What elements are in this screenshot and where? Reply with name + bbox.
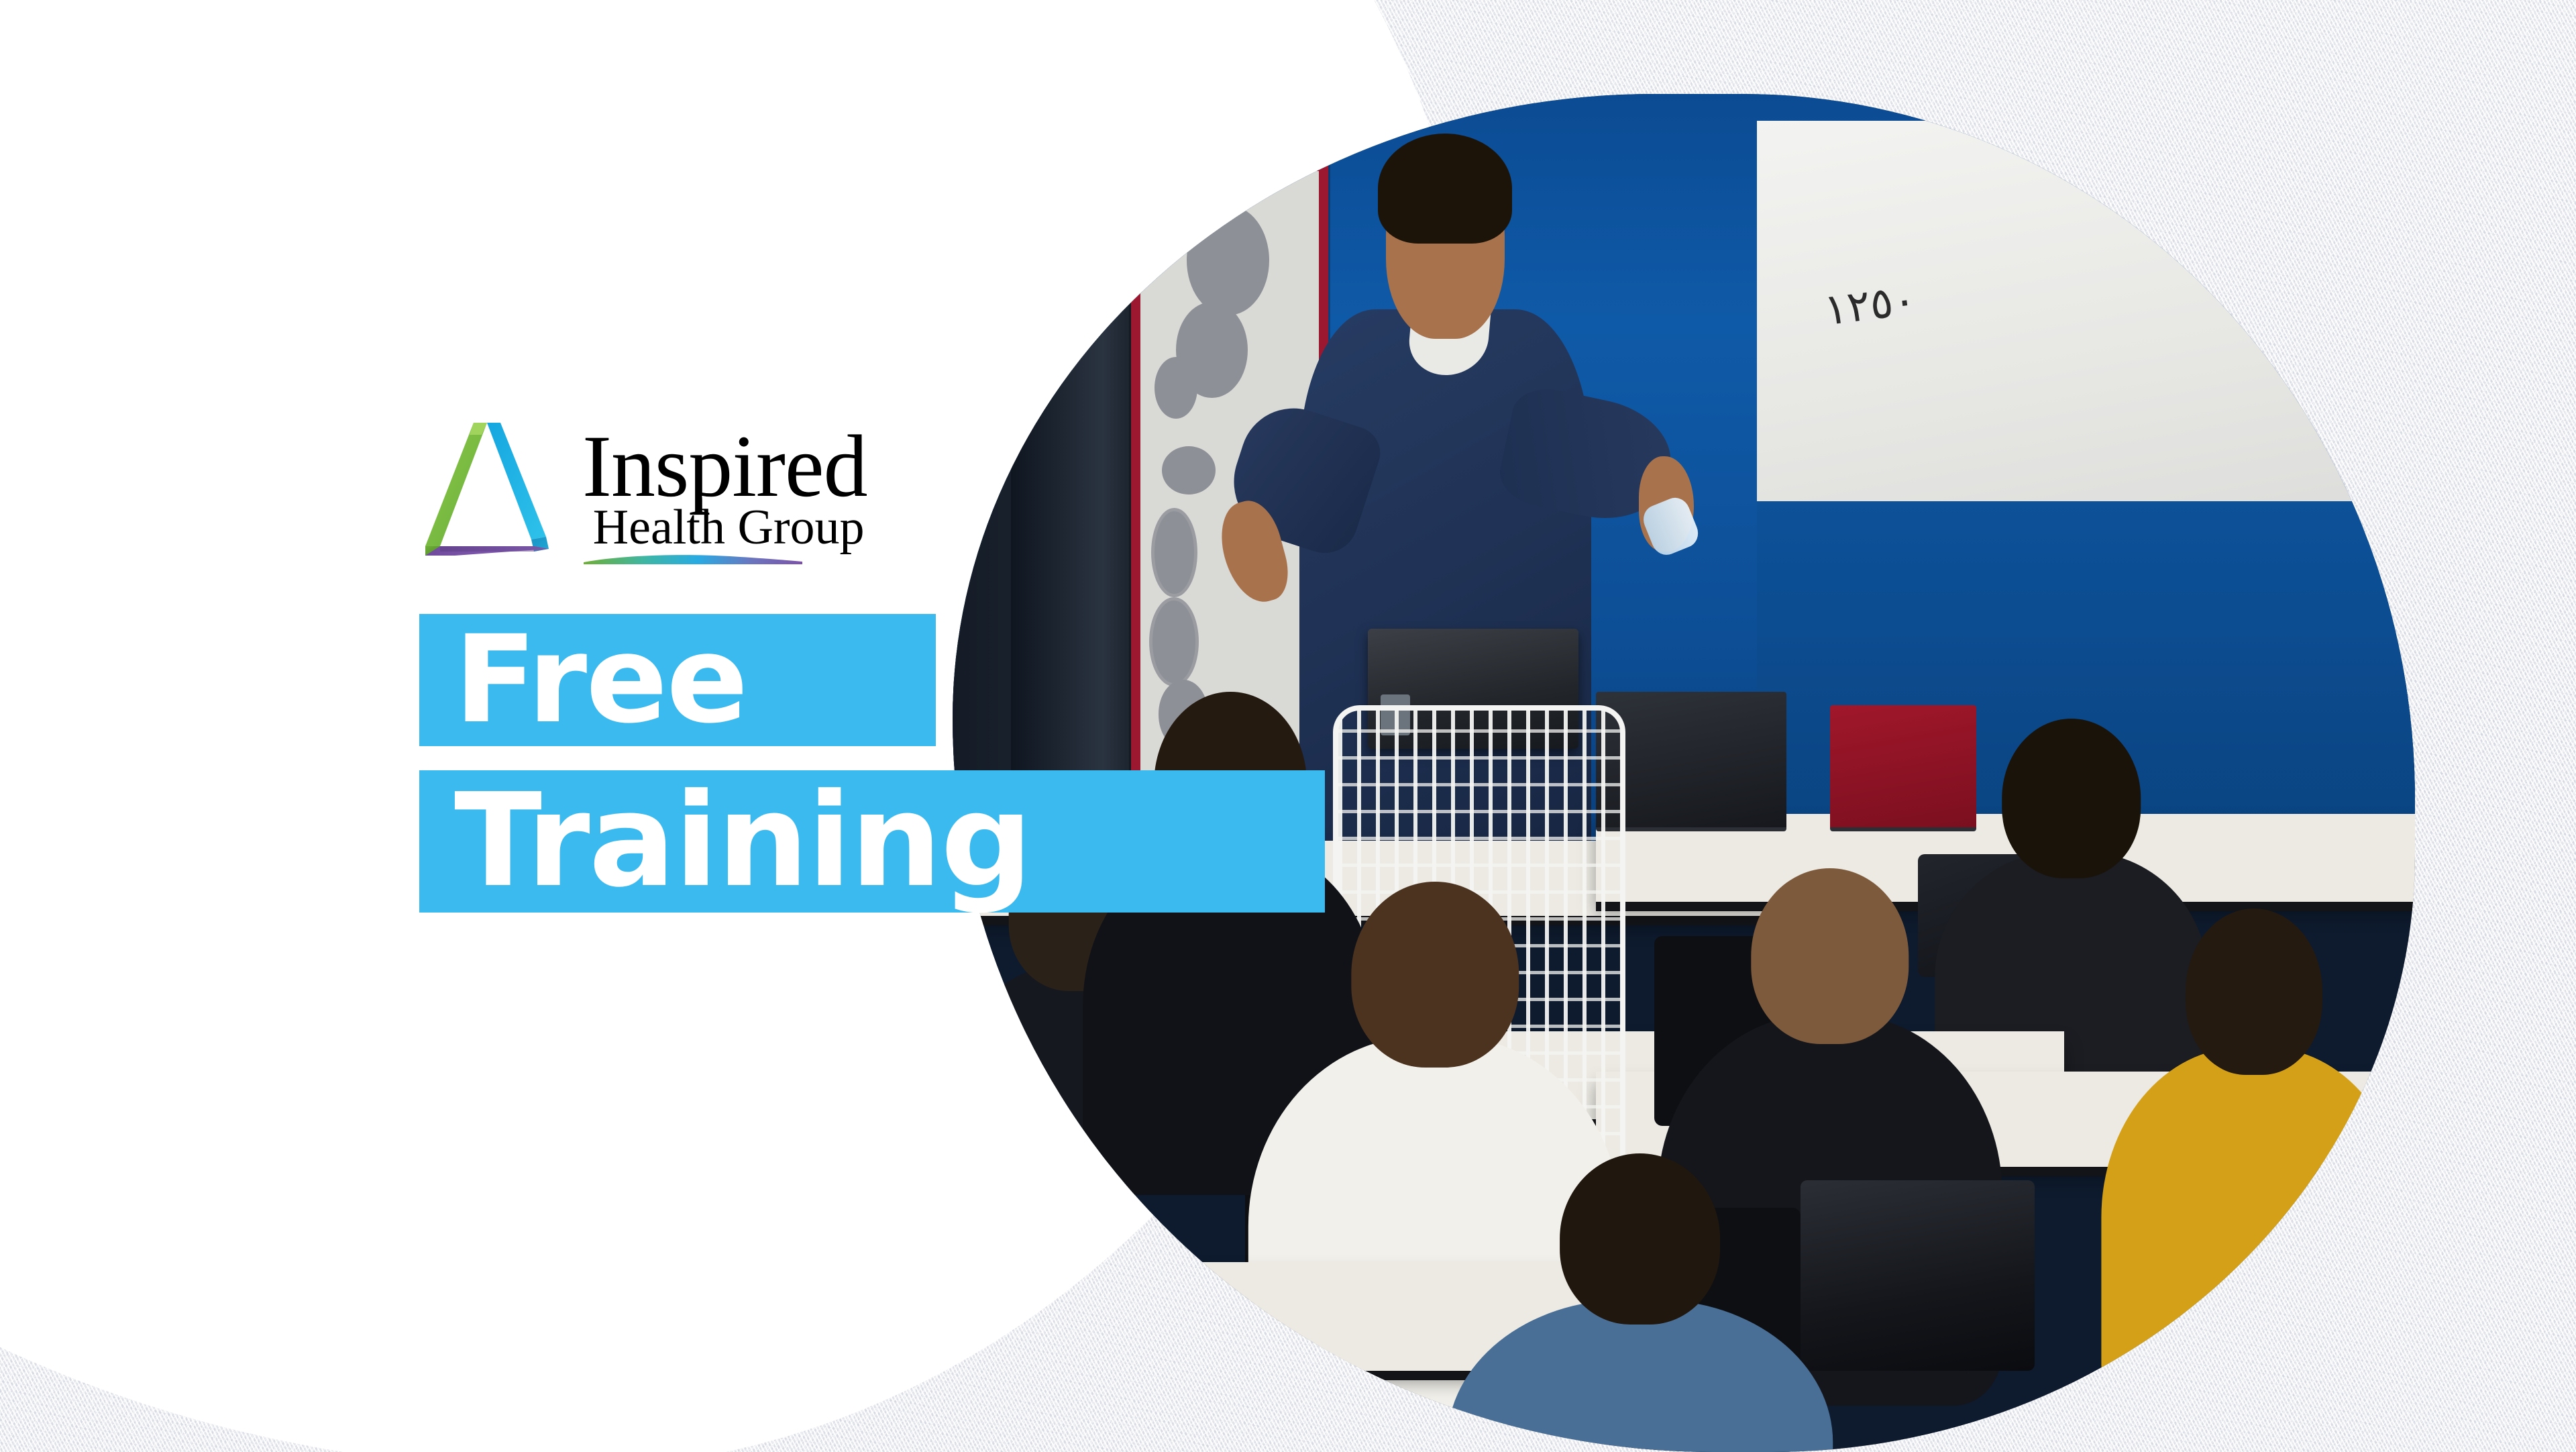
brand-wordmark: Inspired Health Group <box>582 417 867 568</box>
banner-canvas: ١٢٧ ١٢٥٠ <box>0 0 2576 1452</box>
content-layer: Inspired Health Group <box>0 0 2576 1452</box>
headline-band-training: Training <box>419 770 1325 913</box>
brand-swoosh-icon <box>582 554 804 564</box>
brand-logo[interactable]: Inspired Health Group <box>415 417 867 568</box>
headline-band-free: Free <box>419 614 936 746</box>
inspired-triangle-logo <box>415 417 559 562</box>
brand-name: Inspired <box>582 425 867 507</box>
headline-line-2: Training <box>419 777 1032 906</box>
headline-line-1: Free <box>419 620 747 741</box>
brand-tagline: Health Group <box>582 503 867 552</box>
